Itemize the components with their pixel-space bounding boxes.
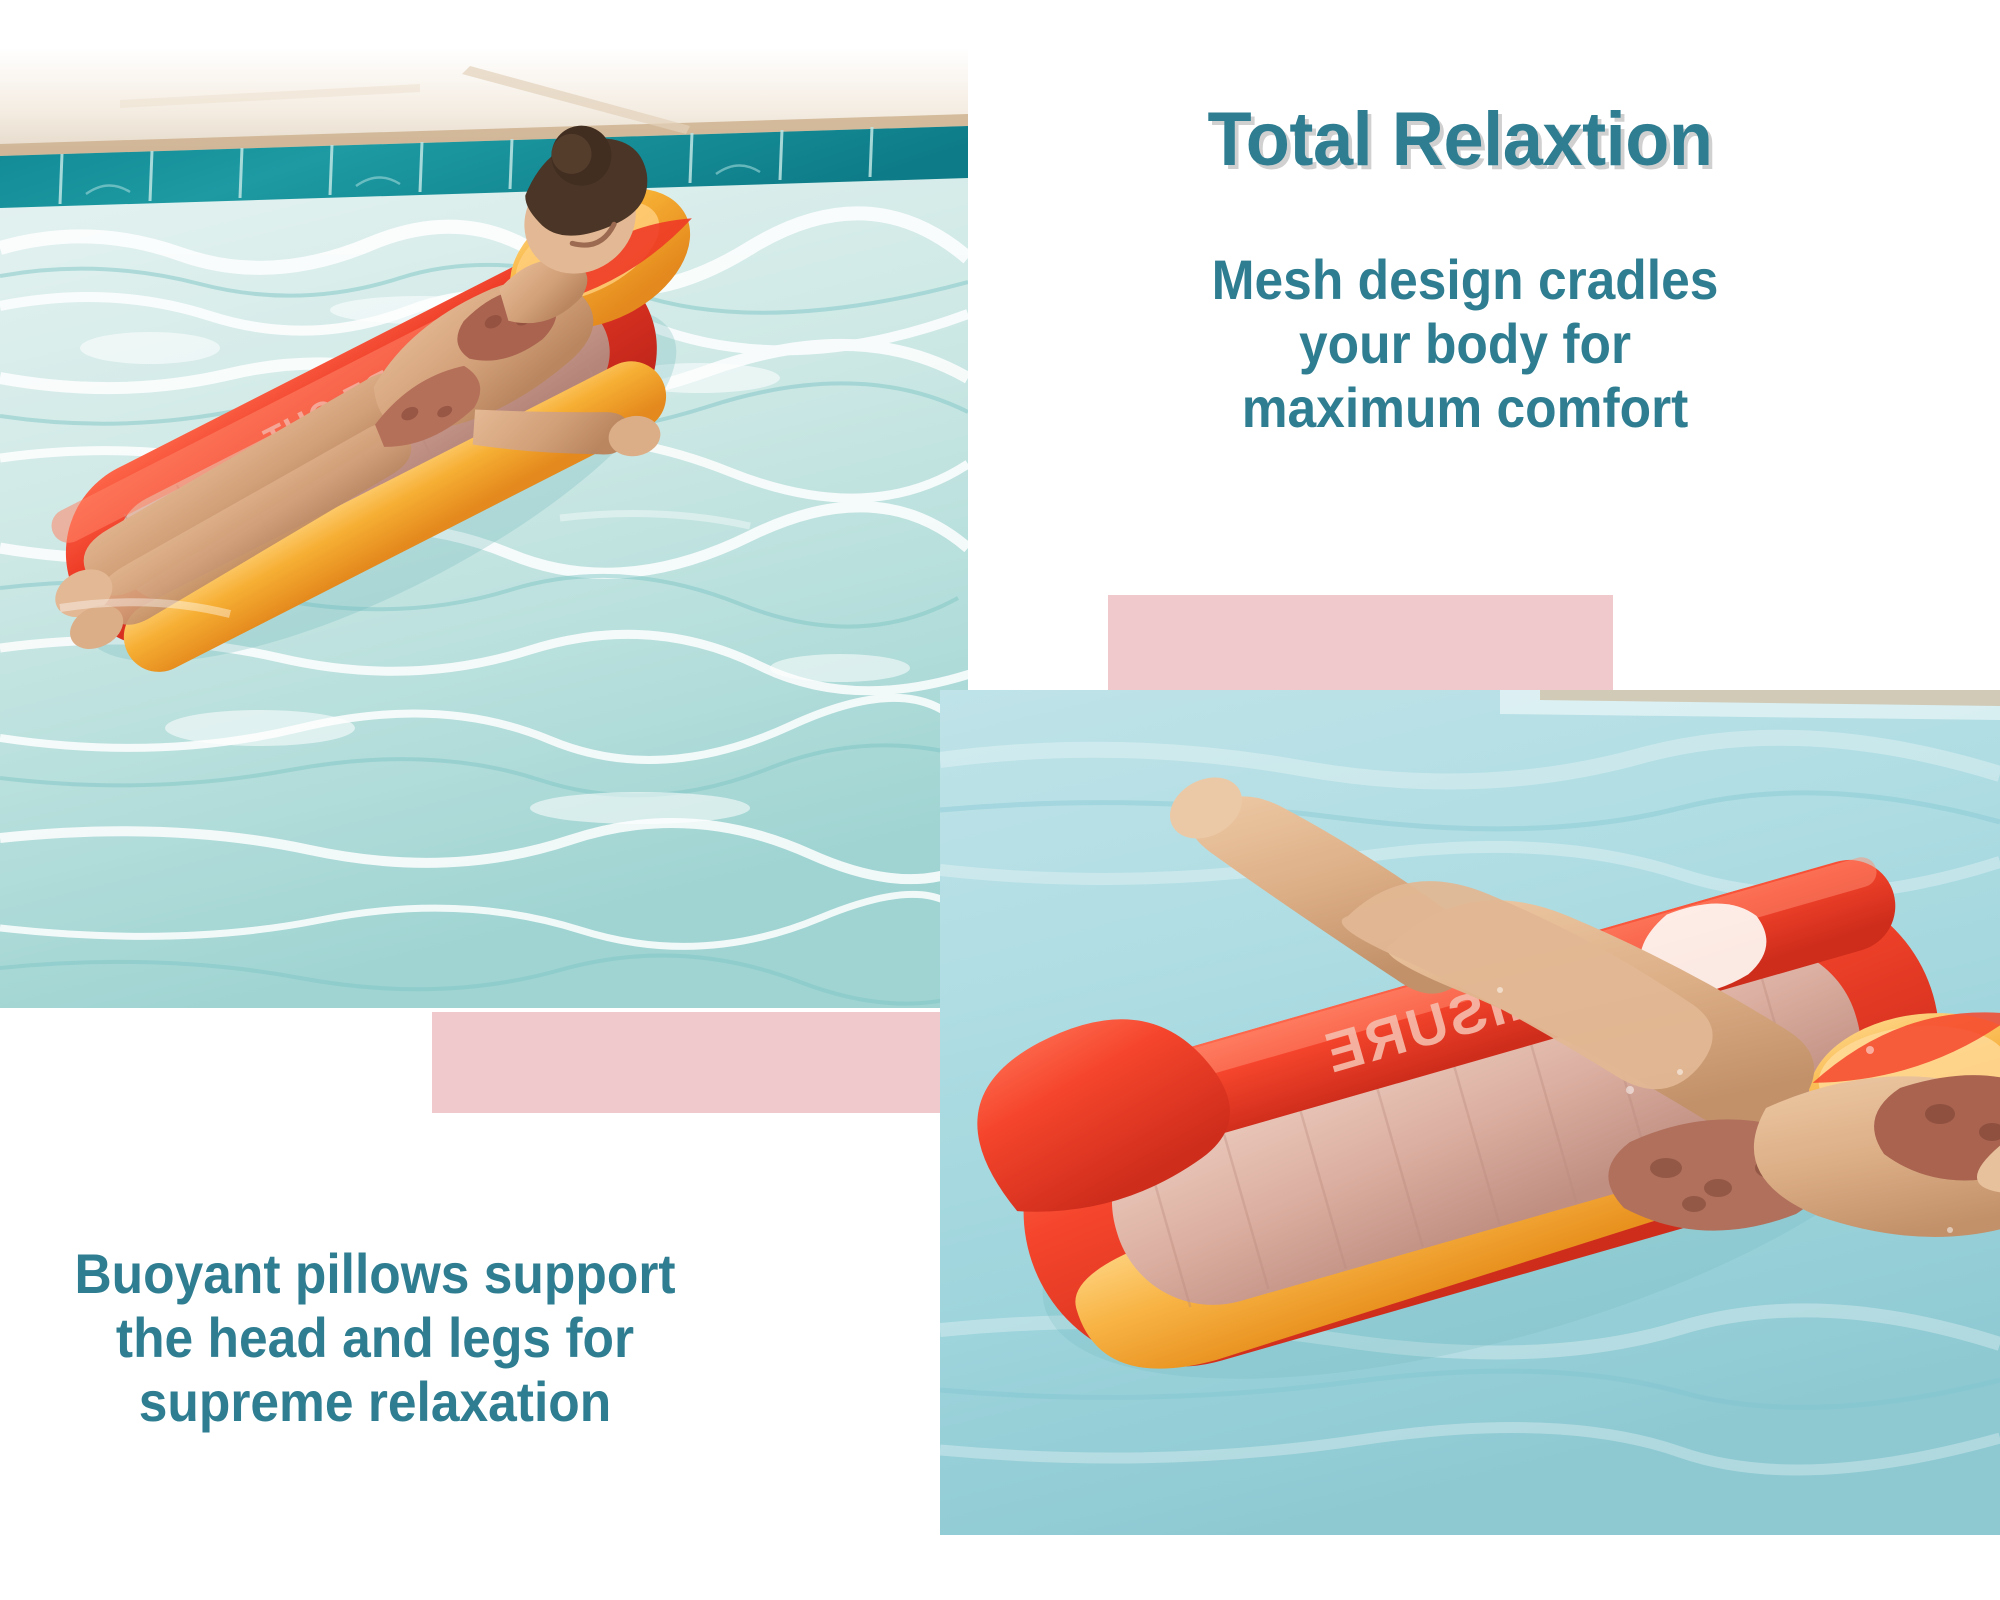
pink-block-top-right	[1108, 595, 1613, 691]
bottom-caption-text: Buoyant pillows support the head and leg…	[39, 1242, 711, 1433]
subtitle-text: Mesh design cradles your body for maximu…	[973, 248, 1957, 439]
poster-canvas: LEISURE OUT	[0, 0, 2000, 1600]
photo-pool-float-wide: LEISURE OUT	[0, 48, 968, 1008]
title-block: Total Relaxtion	[920, 100, 2000, 180]
pink-block-bottom-left	[432, 1012, 940, 1113]
subtitle-block: Mesh design cradles your body for maximu…	[930, 248, 2000, 439]
page-title: Total Relaxtion	[947, 100, 1973, 180]
photo-pool-float-closeup: LEISURE	[940, 690, 2000, 1535]
bottom-caption-block: Buoyant pillows support the head and leg…	[10, 1242, 740, 1433]
